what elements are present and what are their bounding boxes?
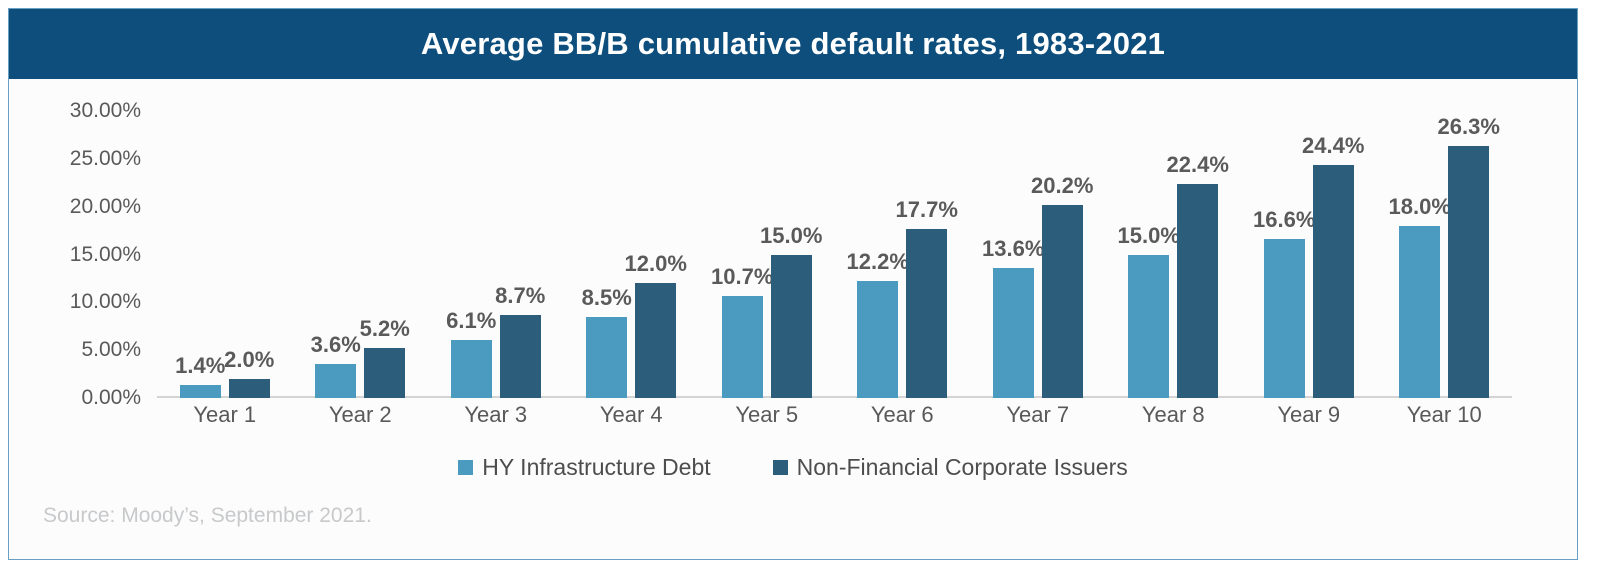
chart-legend: HY Infrastructure DebtNon-Financial Corp… (9, 454, 1577, 481)
bar-group: 6.1%8.7% (428, 111, 564, 398)
bar-group: 12.2%17.7% (835, 111, 971, 398)
bar-value-label: 10.7% (711, 264, 773, 290)
bar-value-label: 20.2% (1031, 173, 1093, 199)
legend-label: HY Infrastructure Debt (482, 454, 710, 481)
legend-item[interactable]: HY Infrastructure Debt (458, 454, 710, 481)
bar-value-label: 15.0% (760, 223, 822, 249)
y-axis-tick: 10.00% (70, 290, 141, 314)
bar-slot: 20.2% (1042, 111, 1083, 398)
bar-value-label: 8.5% (582, 285, 632, 311)
bar-group: 15.0%22.4% (1106, 111, 1242, 398)
bar-slot: 13.6% (993, 111, 1034, 398)
x-axis-tick: Year 6 (871, 402, 934, 428)
bar[interactable] (1177, 184, 1218, 398)
bar-group: 13.6%20.2% (970, 111, 1106, 398)
bar-slot: 8.7% (500, 111, 541, 398)
bar-value-label: 22.4% (1167, 152, 1229, 178)
bar[interactable] (906, 229, 947, 398)
y-axis-tick: 0.00% (81, 386, 141, 410)
bar-value-label: 12.0% (625, 251, 687, 277)
bar-value-label: 15.0% (1118, 223, 1180, 249)
bar-slot: 12.0% (635, 111, 676, 398)
bar-value-label: 1.4% (175, 353, 225, 379)
page-title: Average BB/B cumulative default rates, 1… (421, 26, 1165, 62)
chart-body: 0.00%5.00%10.00%15.00%20.00%25.00%30.00%… (9, 79, 1577, 559)
bar-group: 3.6%5.2% (293, 111, 429, 398)
legend-label: Non-Financial Corporate Issuers (797, 454, 1128, 481)
x-axis-tick: Year 4 (600, 402, 663, 428)
x-axis-tick: Year 5 (735, 402, 798, 428)
bar[interactable] (229, 379, 270, 398)
bar[interactable] (315, 364, 356, 398)
bar-slot: 22.4% (1177, 111, 1218, 398)
bar-slot: 15.0% (771, 111, 812, 398)
bar[interactable] (771, 255, 812, 399)
bar-slot: 18.0% (1399, 111, 1440, 398)
bar-value-label: 3.6% (311, 332, 361, 358)
bar-slot: 10.7% (722, 111, 763, 398)
legend-swatch-icon (773, 460, 788, 475)
bar-slot: 24.4% (1313, 111, 1354, 398)
y-axis: 0.00%5.00%10.00%15.00%20.00%25.00%30.00% (9, 79, 149, 409)
legend-item[interactable]: Non-Financial Corporate Issuers (773, 454, 1128, 481)
bar-group: 10.7%15.0% (699, 111, 835, 398)
bar-slot: 26.3% (1448, 111, 1489, 398)
bar[interactable] (1128, 255, 1169, 399)
bar-slot: 1.4% (180, 111, 221, 398)
y-axis-tick: 25.00% (70, 147, 141, 171)
plot-area: 1.4%2.0%3.6%5.2%6.1%8.7%8.5%12.0%10.7%15… (157, 111, 1512, 398)
bar-group: 1.4%2.0% (157, 111, 293, 398)
bar-group: 8.5%12.0% (564, 111, 700, 398)
x-axis-tick: Year 2 (329, 402, 392, 428)
bar-value-label: 13.6% (982, 236, 1044, 262)
bar-value-label: 5.2% (360, 316, 410, 342)
bar[interactable] (1042, 205, 1083, 398)
bar[interactable] (500, 315, 541, 398)
bar-slot: 2.0% (229, 111, 270, 398)
y-axis-tick: 20.00% (70, 195, 141, 219)
x-axis-tick: Year 3 (464, 402, 527, 428)
chart-title-bar: Average BB/B cumulative default rates, 1… (9, 9, 1577, 79)
bar-group: 16.6%24.4% (1241, 111, 1377, 398)
bar-slot: 12.2% (857, 111, 898, 398)
bar-value-label: 2.0% (224, 347, 274, 373)
x-axis-tick: Year 9 (1277, 402, 1340, 428)
bar-value-label: 8.7% (495, 283, 545, 309)
bar-slot: 16.6% (1264, 111, 1305, 398)
bar[interactable] (722, 296, 763, 398)
bar[interactable] (180, 385, 221, 398)
x-axis-tick: Year 7 (1006, 402, 1069, 428)
chart-figure: Average BB/B cumulative default rates, 1… (8, 8, 1578, 560)
bar-value-label: 12.2% (847, 249, 909, 275)
bar-slot: 15.0% (1128, 111, 1169, 398)
x-axis-tick: Year 8 (1142, 402, 1205, 428)
bar-value-label: 16.6% (1253, 207, 1315, 233)
bar-slot: 3.6% (315, 111, 356, 398)
bar[interactable] (364, 348, 405, 398)
bar-value-label: 18.0% (1389, 194, 1451, 220)
bar-value-label: 6.1% (446, 308, 496, 334)
bar[interactable] (857, 281, 898, 398)
bar-slot: 6.1% (451, 111, 492, 398)
x-axis-tick: Year 10 (1407, 402, 1482, 428)
bar-value-label: 26.3% (1438, 114, 1500, 140)
y-axis-tick: 5.00% (81, 338, 141, 362)
bar-value-label: 24.4% (1302, 133, 1364, 159)
legend-swatch-icon (458, 460, 473, 475)
bar[interactable] (1399, 226, 1440, 398)
bar[interactable] (586, 317, 627, 398)
bar[interactable] (451, 340, 492, 398)
bar-group: 18.0%26.3% (1377, 111, 1513, 398)
bar[interactable] (993, 268, 1034, 398)
bar[interactable] (1448, 146, 1489, 398)
bar-value-label: 17.7% (896, 197, 958, 223)
x-axis-tick: Year 1 (193, 402, 256, 428)
y-axis-tick: 15.00% (70, 243, 141, 267)
bar-slot: 17.7% (906, 111, 947, 398)
x-axis: Year 1Year 2Year 3Year 4Year 5Year 6Year… (157, 402, 1512, 442)
source-note: Source: Moody’s, September 2021. (43, 504, 372, 528)
y-axis-tick: 30.00% (70, 99, 141, 123)
bar[interactable] (1313, 165, 1354, 398)
bar-slot: 8.5% (586, 111, 627, 398)
bar[interactable] (1264, 239, 1305, 398)
bar[interactable] (635, 283, 676, 398)
bar-slot: 5.2% (364, 111, 405, 398)
